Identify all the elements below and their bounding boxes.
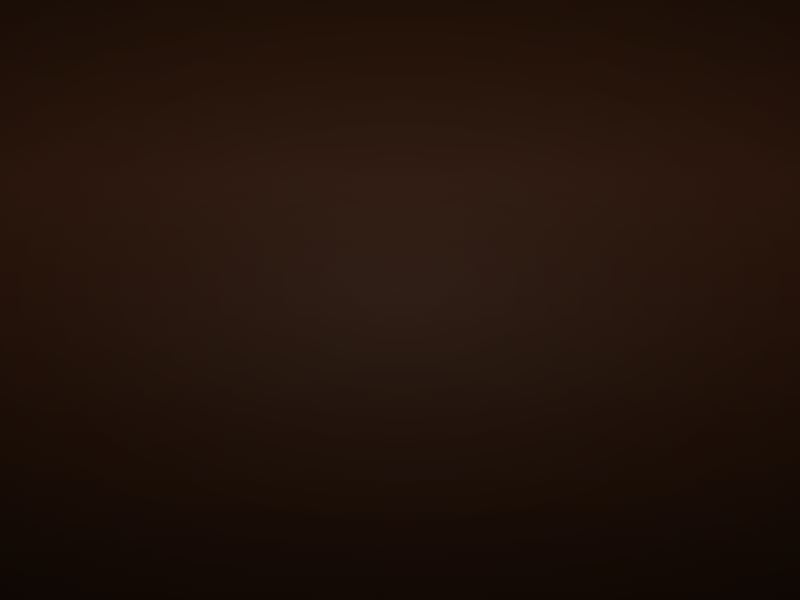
x-tick-label: 0.4 — [421, 500, 434, 511]
ct-label: 9000 — [359, 375, 378, 384]
chromaticity-plot: 00.10.20.30.40.50.60.700.10.20.30.40.50.… — [233, 192, 571, 528]
marker-HC900-blue-primary — [329, 472, 334, 477]
ct-label: 8000 — [378, 398, 397, 407]
segment-letter-4: G — [637, 337, 647, 352]
y-tick-label: 0.8 — [249, 218, 262, 229]
legend-swatch-2 — [454, 291, 484, 292]
x-tick-label: 0.7 — [536, 498, 549, 509]
segment-letter-5: B — [658, 298, 668, 313]
projected-slide-scene: MITSUBISHI 三菱電機 Changes for the Better 深… — [0, 0, 800, 600]
ct-label: 6000 — [395, 392, 414, 401]
marker-HC900-green-primary — [382, 297, 387, 302]
legend-label-1: HC3000 — [490, 270, 522, 281]
chart-title: 色再現性 — [198, 164, 592, 190]
y-tick-label: 0.4 — [252, 356, 265, 367]
x-tick-label: 0.5 — [459, 499, 472, 510]
y-tick-label: 0.3 — [253, 390, 266, 401]
x-tick-label: 0.6 — [498, 498, 511, 509]
slide-title: 深紅の赤を実現するCW — [227, 87, 559, 137]
slide-surface: MITSUBISHI 三菱電機 Changes for the Better 深… — [45, 0, 770, 574]
y-axis-label: 色度 y — [213, 336, 230, 367]
y-tick-label: 0.7 — [250, 253, 263, 264]
segment-letter-1: G — [726, 336, 736, 351]
color-wheel-block: 6セグメントCW RGBRGB — [599, 232, 765, 485]
slide: MITSUBISHI 三菱電機 Changes for the Better 深… — [45, 0, 770, 574]
legend-label-2: 黒体軌跡 — [490, 285, 525, 296]
slide-header-band: MITSUBISHI 三菱電機 — [45, 0, 758, 64]
x-tick-label: 0.2 — [344, 501, 357, 512]
y-tick-label: 0.2 — [254, 424, 267, 435]
ct-label: 5000 — [394, 353, 413, 362]
brand-tagline: Changes for the Better — [557, 76, 736, 99]
plot-svg: 00.10.20.30.40.50.60.700.10.20.30.40.50.… — [233, 192, 571, 528]
marker-HC900-red-primary — [518, 376, 523, 381]
legend-label-0: HC900 — [489, 255, 516, 265]
x-tick-label: 0 — [271, 502, 277, 513]
brand-name-ja: 三菱電機 — [139, 41, 199, 55]
chart-panel: 色再現性 色度 y 色度 x 00.10.20.30.40.50.60.700.… — [197, 139, 603, 558]
y-tick-label: 0.6 — [251, 287, 264, 298]
y-tick-label: 0 — [264, 493, 270, 504]
mitsubishi-logo: MITSUBISHI 三菱電機 — [73, 8, 264, 63]
color-wheel-label: 6セグメントCW — [649, 232, 751, 254]
segment-letter-2: B — [705, 375, 715, 390]
ct-label: 10000 — [351, 400, 374, 409]
ct-label: 7000 — [377, 369, 396, 378]
marker-HC900-white-point — [381, 389, 386, 394]
color-wheel-svg: RGBRGB — [610, 268, 764, 421]
legend-marker-0 — [466, 259, 471, 264]
segment-letter-0: R — [703, 298, 713, 313]
x-tick-label: 0.3 — [383, 500, 396, 511]
y-tick-label: 0.1 — [255, 459, 268, 470]
y-tick-label: 0.5 — [252, 321, 265, 332]
x-tick-label: 0.1 — [306, 502, 319, 513]
brand-name: MITSUBISHI — [105, 17, 232, 40]
segment-letter-3: R — [660, 376, 670, 391]
